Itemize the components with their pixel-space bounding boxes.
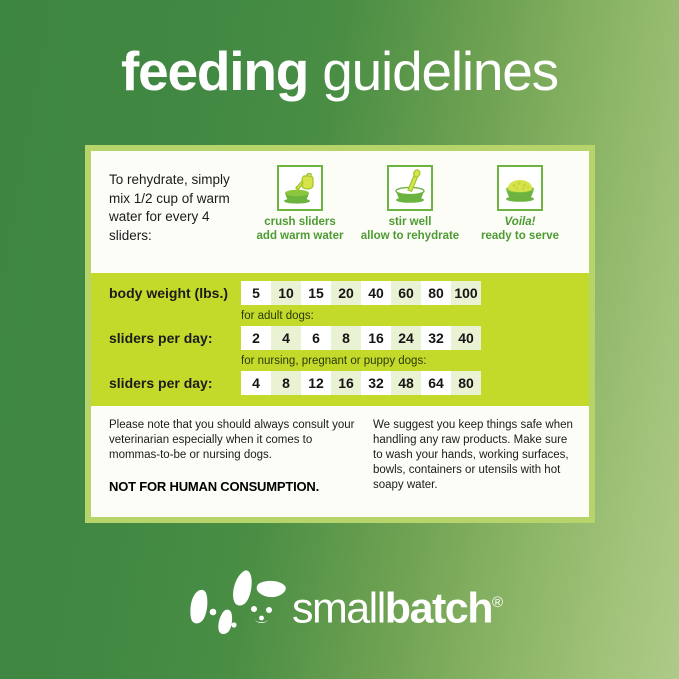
rehydrate-instruction-text: To rehydrate, simply mix 1/2 cup of warm… — [109, 165, 237, 245]
spoon-stirring-bowl-icon — [387, 165, 433, 211]
brand-word-small: small — [292, 584, 385, 632]
table-cell: 48 — [391, 371, 421, 395]
body-weight-cells: 5 10 15 20 40 60 80 100 — [241, 281, 481, 305]
table-cell: 100 — [451, 281, 481, 305]
step-caption-line2: allow to rehydrate — [355, 230, 465, 244]
nursing-dogs-caption-row: for nursing, pregnant or puppy dogs: — [91, 351, 589, 370]
nursing-dogs-caption: for nursing, pregnant or puppy dogs: — [241, 355, 426, 367]
brand-wordmark: smallbatch® — [292, 580, 503, 631]
table-cell: 32 — [361, 371, 391, 395]
table-cell: 64 — [421, 371, 451, 395]
table-row-body-weight: body weight (lbs.) 5 10 15 20 40 60 80 1… — [91, 280, 589, 306]
page-title: feeding guidelines — [0, 40, 679, 102]
adult-dogs-caption-row: for adult dogs: — [91, 306, 589, 325]
table-cell: 8 — [271, 371, 301, 395]
step-ready-to-serve: Voila! ready to serve — [465, 165, 575, 243]
guidelines-card: To rehydrate, simply mix 1/2 cup of warm… — [85, 145, 595, 523]
table-cell: 2 — [241, 326, 271, 350]
registered-trademark-icon: ® — [492, 594, 503, 611]
table-cell: 4 — [271, 326, 301, 350]
step-caption-line2: add warm water — [245, 230, 355, 244]
table-cell: 32 — [421, 326, 451, 350]
table-cell: 40 — [361, 281, 391, 305]
feeding-guidelines-poster: feeding guidelines To rehydrate, simply … — [0, 0, 679, 679]
table-cell: 80 — [421, 281, 451, 305]
table-cell: 4 — [241, 371, 271, 395]
nursing-sliders-label: sliders per day: — [91, 375, 241, 391]
adult-sliders-label: sliders per day: — [91, 330, 241, 346]
step-caption-line1: Voila! — [465, 216, 575, 230]
veterinarian-note: Please note that you should always consu… — [109, 418, 359, 463]
step-crush-sliders: crush sliders add warm water — [245, 165, 355, 243]
table-cell: 40 — [451, 326, 481, 350]
body-weight-label: body weight (lbs.) — [91, 285, 241, 301]
instructions-section: To rehydrate, simply mix 1/2 cup of warm… — [91, 151, 589, 273]
note-column-left: Please note that you should always consu… — [109, 418, 373, 507]
preparation-steps: crush sliders add warm water — [237, 165, 575, 243]
step-stir-well-caption: stir well allow to rehydrate — [355, 216, 465, 243]
table-row-adult-sliders: sliders per day: 2 4 6 8 16 24 32 40 — [91, 325, 589, 351]
step-crush-sliders-caption: crush sliders add warm water — [245, 216, 355, 243]
table-cell: 60 — [391, 281, 421, 305]
table-cell: 20 — [331, 281, 361, 305]
table-cell: 24 — [391, 326, 421, 350]
guidelines-card-inner: To rehydrate, simply mix 1/2 cup of warm… — [91, 151, 589, 517]
human-consumption-warning: NOT FOR HUMAN CONSUMPTION. — [109, 479, 359, 494]
table-cell: 80 — [451, 371, 481, 395]
full-food-bowl-icon — [497, 165, 543, 211]
step-stir-well: stir well allow to rehydrate — [355, 165, 465, 243]
brand-logo: smallbatch® — [0, 565, 679, 646]
note-column-right: We suggest you keep things safe when han… — [373, 418, 573, 507]
table-cell: 12 — [301, 371, 331, 395]
brand-word-batch: batch — [385, 584, 492, 632]
table-cell: 16 — [361, 326, 391, 350]
page-title-light: guidelines — [322, 40, 558, 102]
table-cell: 6 — [301, 326, 331, 350]
page-title-bold: feeding — [121, 40, 308, 102]
food-safety-note: We suggest you keep things safe when han… — [373, 418, 573, 493]
step-caption-line2: ready to serve — [465, 230, 575, 244]
adult-sliders-cells: 2 4 6 8 16 24 32 40 — [241, 326, 481, 350]
table-cell: 15 — [301, 281, 331, 305]
step-caption-line1: crush sliders — [245, 216, 355, 230]
table-row-nursing-sliders: sliders per day: 4 8 12 16 32 48 64 80 — [91, 370, 589, 396]
feeding-table: body weight (lbs.) 5 10 15 20 40 60 80 1… — [91, 273, 589, 406]
notes-section: Please note that you should always consu… — [91, 406, 589, 517]
nursing-sliders-cells: 4 8 12 16 32 48 64 80 — [241, 371, 481, 395]
step-caption-line1: stir well — [355, 216, 465, 230]
step-ready-to-serve-caption: Voila! ready to serve — [465, 216, 575, 243]
table-cell: 10 — [271, 281, 301, 305]
dog-cat-faces-logo-icon — [176, 565, 288, 646]
table-cell: 5 — [241, 281, 271, 305]
watering-can-pouring-into-bowl-icon — [277, 165, 323, 211]
table-cell: 16 — [331, 371, 361, 395]
adult-dogs-caption: for adult dogs: — [241, 310, 314, 322]
table-cell: 8 — [331, 326, 361, 350]
